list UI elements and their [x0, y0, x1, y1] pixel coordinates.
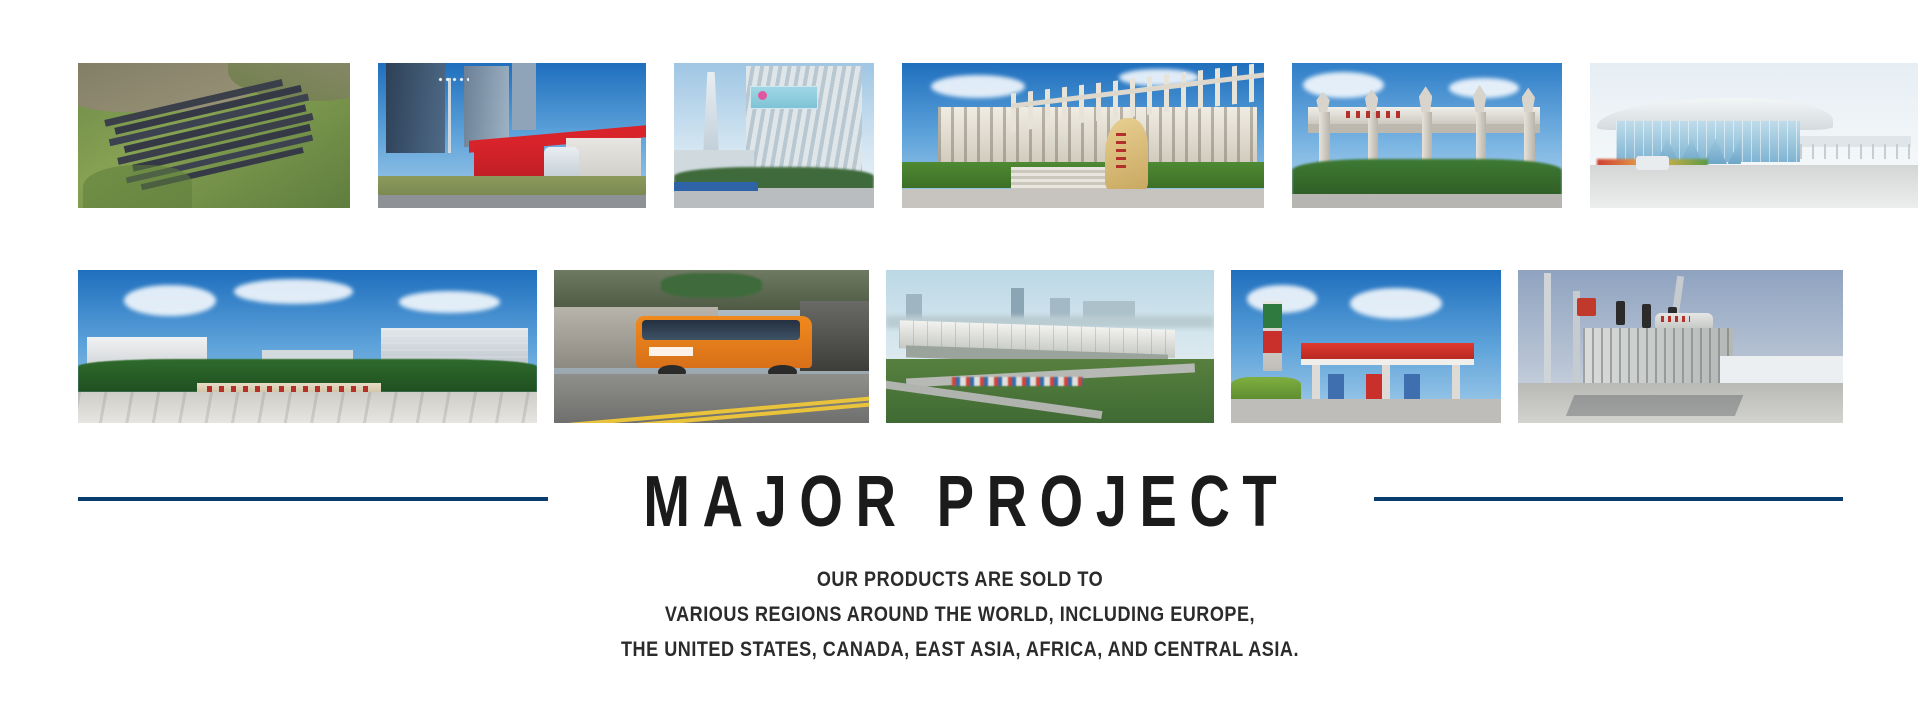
ground-shadow — [1566, 395, 1744, 416]
photo-scene — [886, 270, 1214, 423]
shrubbery — [1292, 159, 1562, 197]
photo-scene — [674, 63, 874, 208]
skyscraper-mid — [464, 66, 510, 147]
subtitle-line-2: VARIOUS REGIONS AROUND THE WORLD, INCLUD… — [134, 597, 1785, 632]
staircase — [1011, 167, 1120, 190]
gallery-row-bottom — [78, 270, 1843, 423]
forecourt-canopy — [1301, 343, 1474, 358]
roadside-trees — [661, 273, 762, 297]
monument-inscription — [1116, 133, 1127, 171]
forecourt-ground — [1231, 399, 1501, 423]
campus-plaza-photo[interactable] — [78, 270, 537, 423]
gas-station-photo[interactable] — [1231, 270, 1501, 423]
pylon-sign-green — [1263, 304, 1282, 328]
page-title: MAJOR PROJECT — [211, 466, 1709, 538]
convention-center-photo[interactable] — [886, 270, 1214, 423]
road-foreground — [674, 188, 874, 208]
light-pole — [448, 78, 451, 153]
photo-scene — [1292, 63, 1562, 208]
canopy-column-3 — [1452, 365, 1460, 402]
bus-windows — [642, 320, 800, 340]
radiator-fins — [1583, 328, 1733, 389]
support-mast-1 — [1544, 273, 1551, 386]
pavement — [1292, 194, 1562, 209]
bushing-2 — [1642, 304, 1652, 328]
canopy-column-2 — [1382, 365, 1390, 402]
tram-station-photo[interactable] — [378, 63, 646, 208]
gallery-row-top — [78, 63, 1918, 208]
paving-shadow-stripes — [78, 392, 537, 423]
bushing-1 — [1616, 301, 1626, 325]
photo-scene — [378, 63, 646, 208]
power-substation-photo[interactable] — [1518, 270, 1843, 423]
campus-building-monument-photo[interactable] — [902, 63, 1264, 208]
canopy-posts — [1800, 144, 1912, 159]
lamp-heads — [437, 76, 469, 83]
canopy-column-1 — [1312, 365, 1320, 402]
foreground-vegetation — [83, 165, 192, 209]
vehicles-row — [952, 377, 1083, 386]
stone-archway-gate-photo[interactable] — [1292, 63, 1562, 208]
logo-mark — [758, 91, 767, 100]
photo-scene — [1518, 270, 1843, 423]
tank-label — [1661, 316, 1690, 322]
subtitle-line-1: OUR PRODUCTS ARE SOLD TO — [134, 562, 1785, 597]
photo-scene — [78, 63, 350, 208]
subtitle-block: OUR PRODUCTS ARE SOLD TO VARIOUS REGIONS… — [0, 562, 1920, 667]
subtitle-line-3: THE UNITED STATES, CANADA, EAST ASIA, AF… — [134, 632, 1785, 667]
fuel-pump-3 — [1404, 374, 1420, 398]
gate-inscription — [1346, 111, 1405, 118]
road-strip — [378, 195, 646, 208]
fuel-pump-1 — [1328, 374, 1344, 398]
brt-orange-bus-photo[interactable] — [554, 270, 869, 423]
blue-hoarding — [674, 182, 758, 191]
major-project-section: MAJOR PROJECT OUR PRODUCTS ARE SOLD TO V… — [0, 0, 1920, 720]
pillar-cap-3 — [1419, 86, 1433, 112]
red-insulator-marker — [1577, 298, 1597, 316]
sign-wall-characters — [207, 386, 372, 392]
apron-road — [1590, 165, 1918, 209]
photo-scene — [554, 270, 869, 423]
photo-scene — [78, 270, 537, 423]
plaza-ground — [902, 189, 1264, 208]
parked-van — [1636, 156, 1669, 171]
skyscraper-slim — [512, 63, 536, 130]
perimeter-wall — [1720, 356, 1844, 384]
photo-scene — [902, 63, 1264, 208]
stone-monument — [1105, 118, 1148, 191]
office-tower — [746, 66, 862, 176]
airport-terminal-photo[interactable] — [1590, 63, 1918, 208]
canton-tower-office-photo[interactable] — [674, 63, 874, 208]
photo-scene — [1590, 63, 1918, 208]
fuel-pump-2 — [1366, 374, 1382, 398]
photo-scene — [1231, 270, 1501, 423]
pillar-cap-5 — [1522, 88, 1536, 113]
bus-livery-panel — [649, 347, 693, 356]
pylon-sign-red — [1263, 331, 1282, 352]
hillside-solar-farm-photo[interactable] — [78, 63, 350, 208]
